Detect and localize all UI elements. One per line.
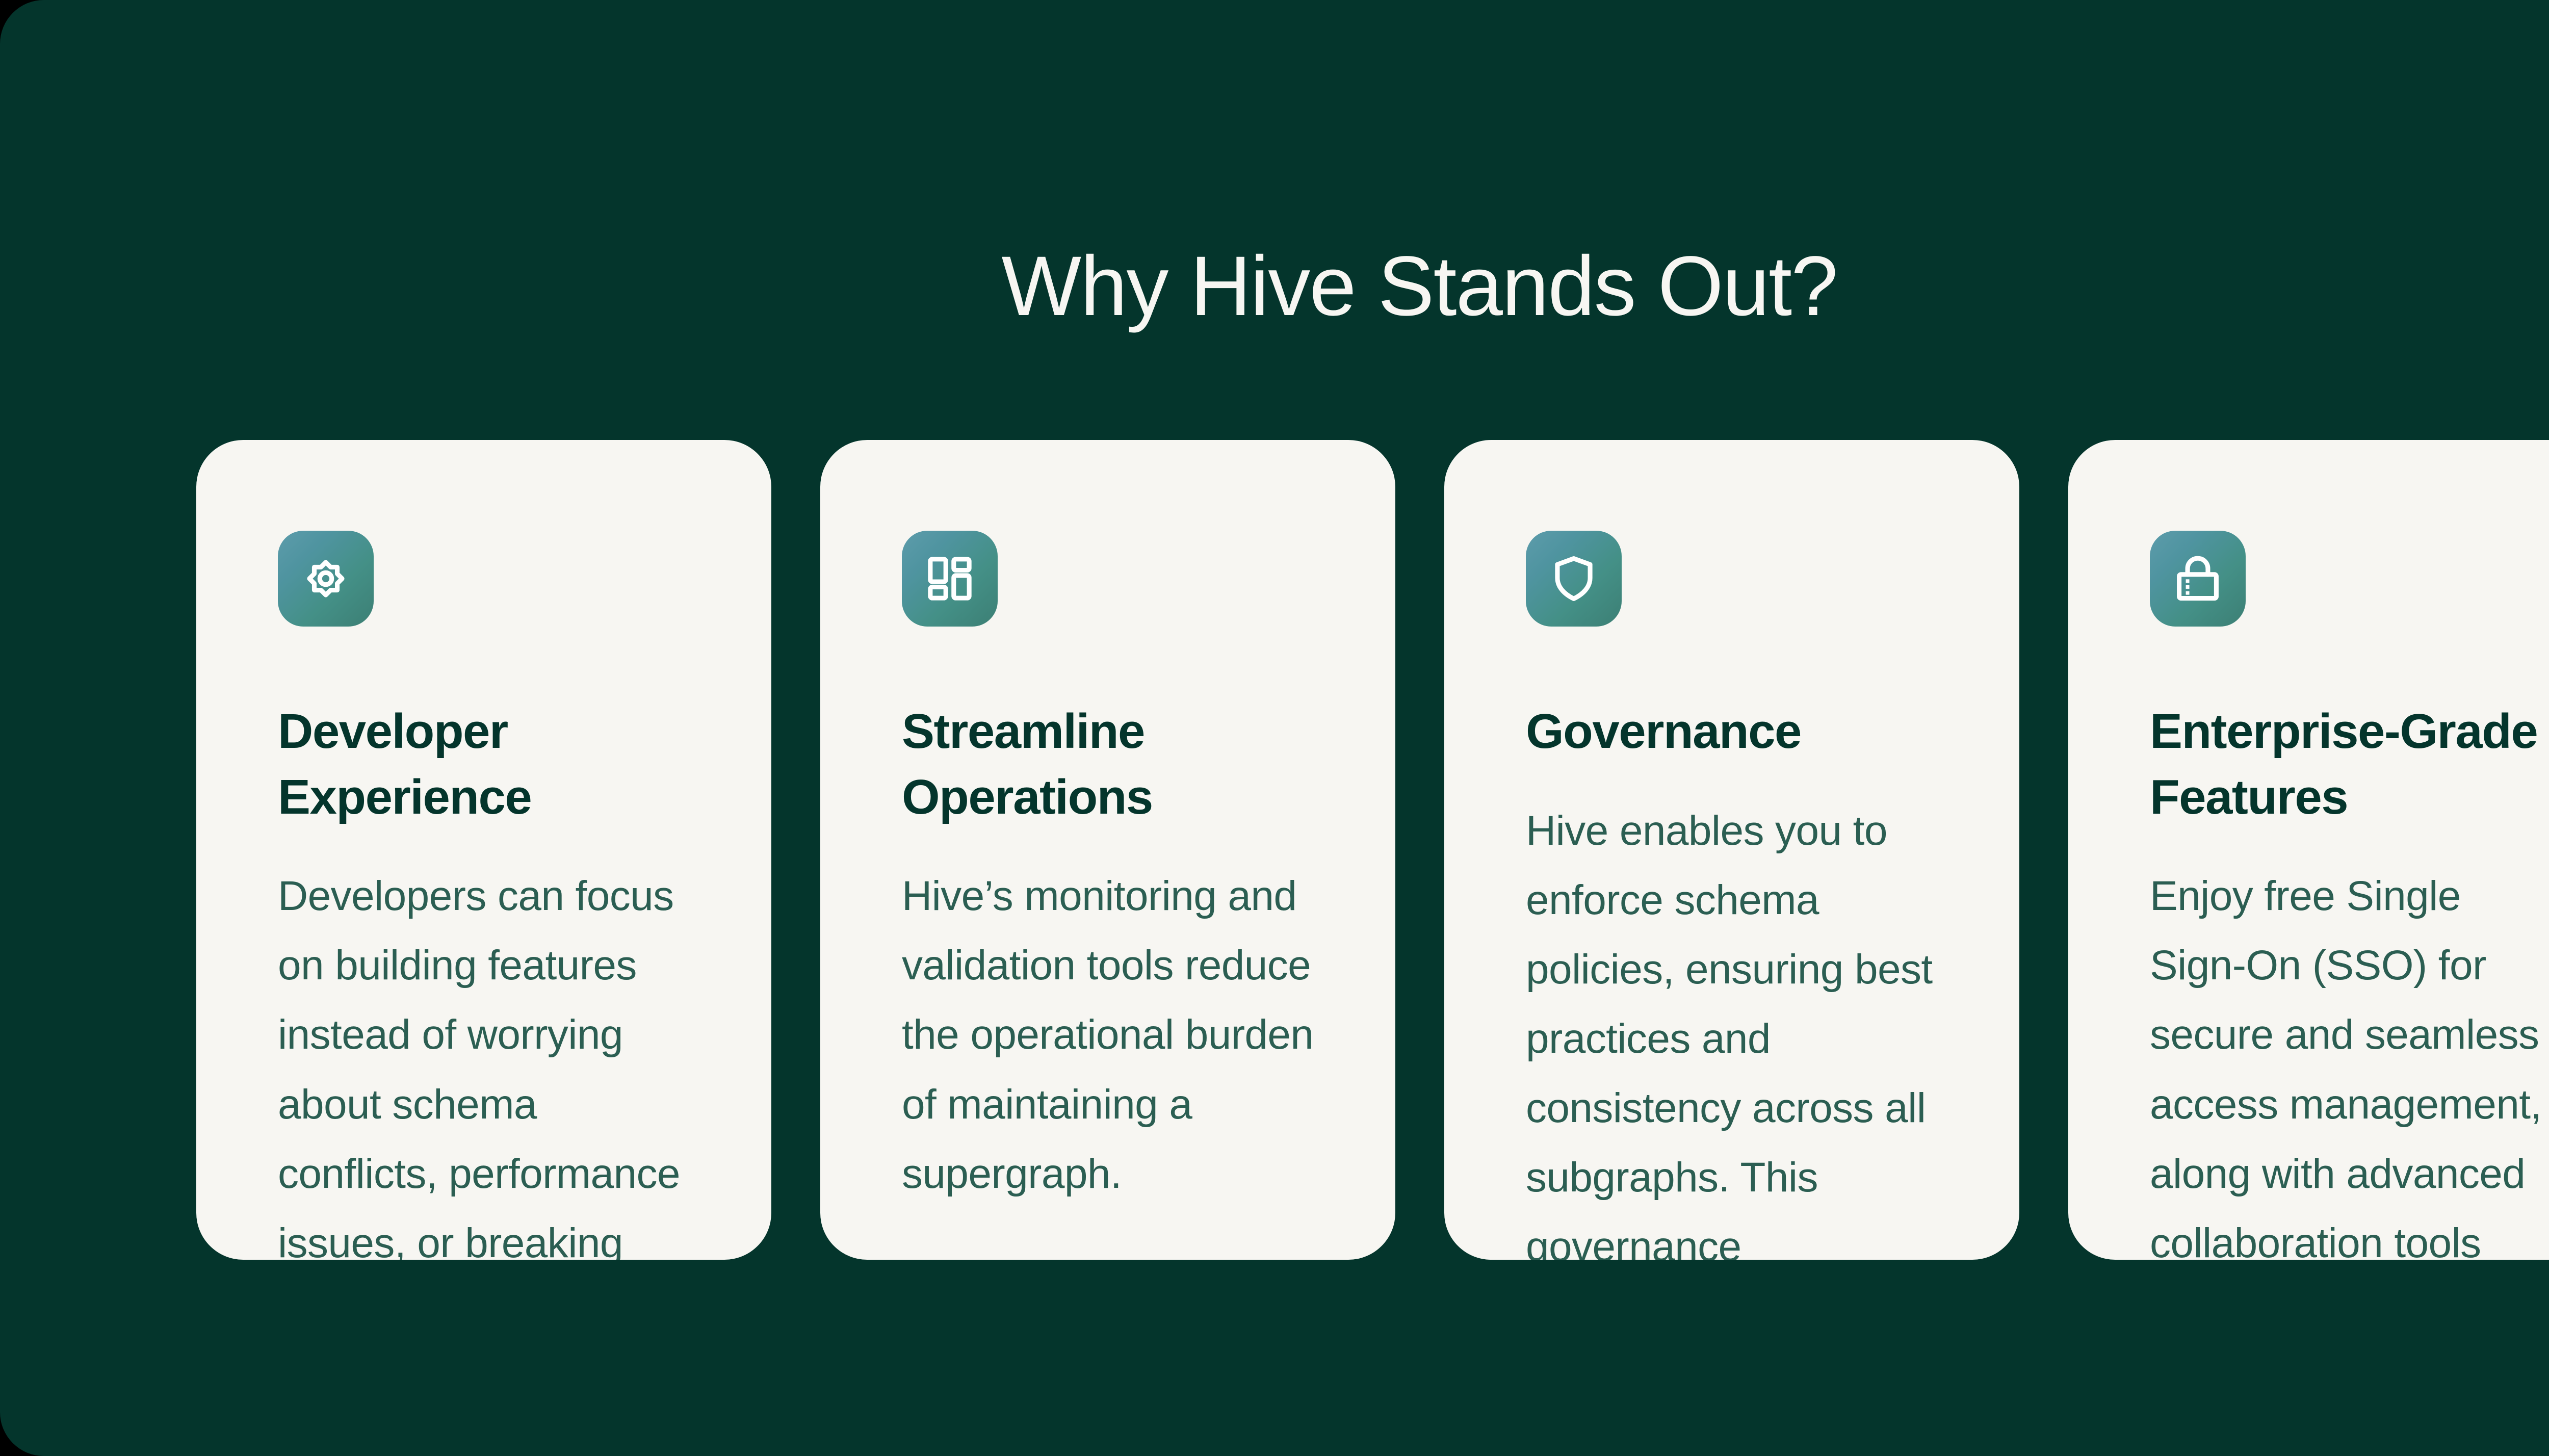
feature-card-governance[interactable]: Governance Hive enables you to enforce s… — [1444, 440, 2019, 1260]
layout-dashboard-icon — [902, 531, 998, 627]
feature-card-grid: Developer Experience Developers can focu… — [196, 440, 2549, 1260]
feature-card-enterprise-grade-features[interactable]: Enterprise-Grade Features Enjoy free Sin… — [2068, 440, 2549, 1260]
feature-card-title: Enterprise-Grade Features — [2150, 699, 2549, 830]
shield-icon — [1526, 531, 1622, 627]
feature-card-title: Governance — [1526, 699, 1801, 765]
feature-section: Why Hive Stands Out? Developer Experienc… — [0, 0, 2549, 1456]
gear-settings-icon — [278, 531, 374, 627]
page-title: Why Hive Stands Out? — [0, 239, 2549, 334]
feature-card-body: Developers can focus on building feature… — [278, 862, 690, 1260]
feature-card-body: Enjoy free Single Sign-On (SSO) for secu… — [2150, 862, 2549, 1260]
feature-card-body: Hive’s monitoring and validation tools r… — [902, 862, 1314, 1209]
feature-card-title: Developer Experience — [278, 699, 690, 830]
feature-card-developer-experience[interactable]: Developer Experience Developers can focu… — [196, 440, 771, 1260]
feature-card-streamline-operations[interactable]: Streamline Operations Hive’s monitoring … — [820, 440, 1395, 1260]
feature-card-title: Streamline Operations — [902, 699, 1314, 830]
lock-icon — [2150, 531, 2246, 627]
feature-card-body: Hive enables you to enforce schema polic… — [1526, 796, 1938, 1260]
screenshot-stage: Why Hive Stands Out? Developer Experienc… — [0, 0, 2549, 1456]
